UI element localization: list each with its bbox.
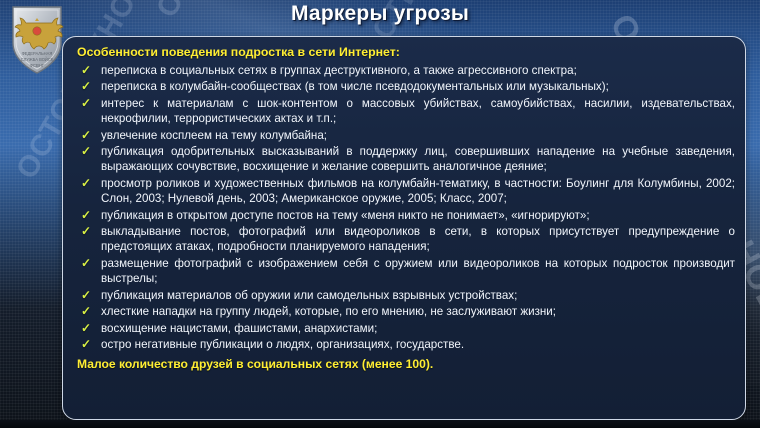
emblem-line3: ФСВНГ — [30, 63, 45, 68]
list-item-text: восхищение нацистами, фашистами, анархис… — [101, 322, 377, 335]
list-item: ✓ публикация материалов об оружии или са… — [73, 288, 737, 303]
content-panel: Особенности поведения подростка в сети И… — [62, 36, 746, 420]
check-icon: ✓ — [81, 176, 91, 191]
list-item: ✓ выкладывание постов, фотографий или ви… — [73, 224, 737, 255]
check-icon: ✓ — [81, 208, 91, 223]
check-icon: ✓ — [81, 224, 91, 239]
list-item: ✓ публикация одобрительных высказываний … — [73, 144, 737, 175]
list-item: ✓ увлечение косплеем на тему колумбайна; — [73, 128, 737, 143]
list-item-text: просмотр роликов и художественных фильмо… — [101, 177, 735, 205]
list-item-text: переписка в социальных сетях в группах д… — [101, 64, 577, 77]
check-icon: ✓ — [81, 144, 91, 159]
list-item: ✓ размещение фотографий с изображением с… — [73, 256, 737, 287]
list-item-text: публикация материалов об оружии или само… — [101, 289, 517, 302]
list-item-text: выкладывание постов, фотографий или виде… — [101, 225, 735, 253]
check-icon: ✓ — [81, 321, 91, 336]
list-item: ✓ переписка в колумбайн-сообществах (в т… — [73, 79, 737, 94]
list-item: ✓ публикация в открытом доступе постов н… — [73, 208, 737, 223]
list-item-text: размещение фотографий с изображением себ… — [101, 257, 735, 285]
bottom-strip — [0, 420, 760, 428]
emblem-line2: СЛУЖБА ВОЙСК — [21, 57, 54, 62]
slide-canvas: ОСТОРОЖНО, НОВОСТИ ОСТОРОЖНО, НОВОСТИ ОС… — [0, 0, 760, 428]
check-icon: ✓ — [81, 79, 91, 94]
list-item-text: переписка в колумбайн-сообществах (в том… — [101, 80, 609, 93]
list-item-text: публикация в открытом доступе постов на … — [101, 209, 590, 222]
list-item: ✓ переписка в социальных сетях в группах… — [73, 63, 737, 78]
list-item-text: увлечение косплеем на тему колумбайна; — [101, 129, 327, 142]
russian-federation-shield-emblem-icon: ФЕДЕРАЛЬНАЯ СЛУЖБА ВОЙСК ФСВНГ — [8, 3, 66, 77]
panel-footer: Малое количество друзей в социальных сет… — [77, 357, 737, 371]
check-icon: ✓ — [81, 337, 91, 352]
slide-title: Маркеры угрозы — [0, 2, 760, 26]
list-item: ✓ просмотр роликов и художественных филь… — [73, 176, 737, 207]
check-icon: ✓ — [81, 288, 91, 303]
emblem-line1: ФЕДЕРАЛЬНАЯ — [22, 51, 53, 56]
list-item: ✓ остро негативные публикации о людях, о… — [73, 337, 737, 352]
list-item: ✓ интерес к материалам с шок-контентом о… — [73, 96, 737, 127]
check-icon: ✓ — [81, 63, 91, 78]
behaviour-markers-list: ✓ переписка в социальных сетях в группах… — [73, 63, 737, 352]
list-item-text: остро негативные публикации о людях, орг… — [101, 338, 464, 351]
list-item-text: публикация одобрительных высказываний в … — [101, 145, 735, 173]
panel-heading: Особенности поведения подростка в сети И… — [77, 45, 737, 59]
list-item: ✓ хлесткие нападки на группу людей, кото… — [73, 304, 737, 319]
check-icon: ✓ — [81, 256, 91, 271]
list-item-text: хлесткие нападки на группу людей, которы… — [101, 305, 556, 318]
list-item-text: интерес к материалам с шок-контентом о м… — [101, 97, 735, 125]
list-item: ✓ восхищение нацистами, фашистами, анарх… — [73, 321, 737, 336]
check-icon: ✓ — [81, 96, 91, 111]
check-icon: ✓ — [81, 128, 91, 143]
check-icon: ✓ — [81, 304, 91, 319]
